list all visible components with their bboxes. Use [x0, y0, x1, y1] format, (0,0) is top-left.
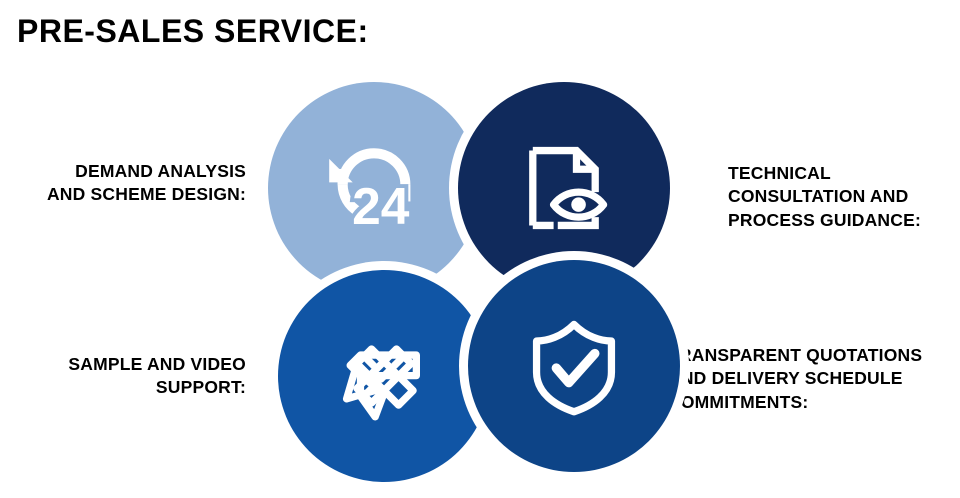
document-eye-icon [512, 136, 616, 240]
circle-demand-analysis[interactable]: 24 [268, 82, 480, 294]
label-technical-consultation: TECHNICAL CONSULTATION AND PROCESS GUIDA… [728, 162, 960, 232]
24-hours-rotate-icon: 24 [318, 132, 430, 244]
page-title: PRE-SALES SERVICE: [17, 13, 369, 50]
label-demand-analysis: DEMAND ANALYSIS AND SCHEME DESIGN: [0, 160, 246, 207]
label-sample-video-support: SAMPLE AND VIDEO SUPPORT: [0, 353, 246, 400]
circle-sample-video-support[interactable] [278, 270, 490, 482]
pencil-ruler-icon [332, 324, 436, 428]
icon-text-24: 24 [352, 177, 410, 235]
infographic-canvas: PRE-SALES SERVICE: DEMAND ANALYSIS AND S… [0, 0, 960, 498]
label-transparent-quotations: TRANSPARENT QUOTATIONS AND DELIVERY SCHE… [668, 344, 960, 414]
shield-check-icon [522, 314, 626, 418]
circle-cluster: 24 [262, 78, 674, 498]
circle-transparent-quotations[interactable] [468, 260, 680, 472]
